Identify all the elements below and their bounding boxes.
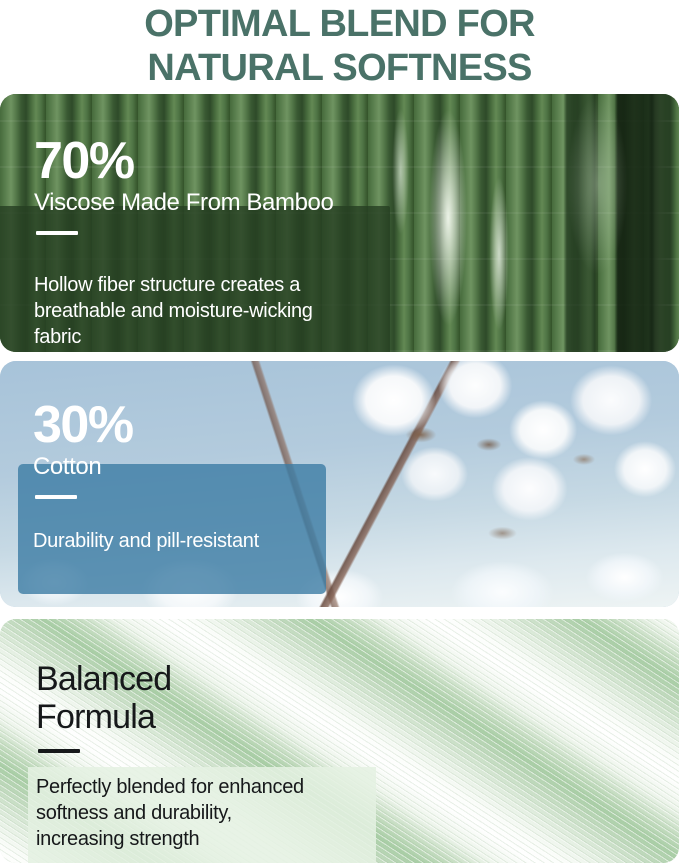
bamboo-description: Hollow fiber structure creates a breatha… [34, 272, 386, 350]
cotton-description-group: Durability and pill-resistant [33, 528, 333, 554]
fabric-headline-group: Balanced Formula [36, 660, 171, 753]
cotton-percent: 30% [33, 398, 133, 452]
bamboo-percent: 70% [34, 134, 333, 188]
page-title-line-2: NATURAL SOFTNESS [0, 46, 679, 90]
cotton-divider-rule [35, 495, 77, 499]
cotton-description: Durability and pill-resistant [33, 528, 333, 554]
bamboo-description-group: Hollow fiber structure creates a breatha… [34, 272, 386, 350]
fabric-divider-rule [38, 749, 80, 753]
fabric-heading: Balanced Formula [36, 660, 171, 736]
page-title-line-1: OPTIMAL BLEND FOR [0, 2, 679, 46]
fabric-description: Perfectly blended for enhanced softness … [36, 774, 376, 852]
bamboo-headline-group: 70% Viscose Made From Bamboo [34, 134, 333, 235]
cotton-headline-group: 30% Cotton [33, 398, 133, 499]
fabric-description-group: Perfectly blended for enhanced softness … [36, 774, 376, 852]
bamboo-material-label: Viscose Made From Bamboo [34, 188, 333, 218]
page-title: OPTIMAL BLEND FOR NATURAL SOFTNESS [0, 0, 679, 90]
bamboo-divider-rule [36, 231, 78, 235]
cotton-material-label: Cotton [33, 452, 133, 482]
